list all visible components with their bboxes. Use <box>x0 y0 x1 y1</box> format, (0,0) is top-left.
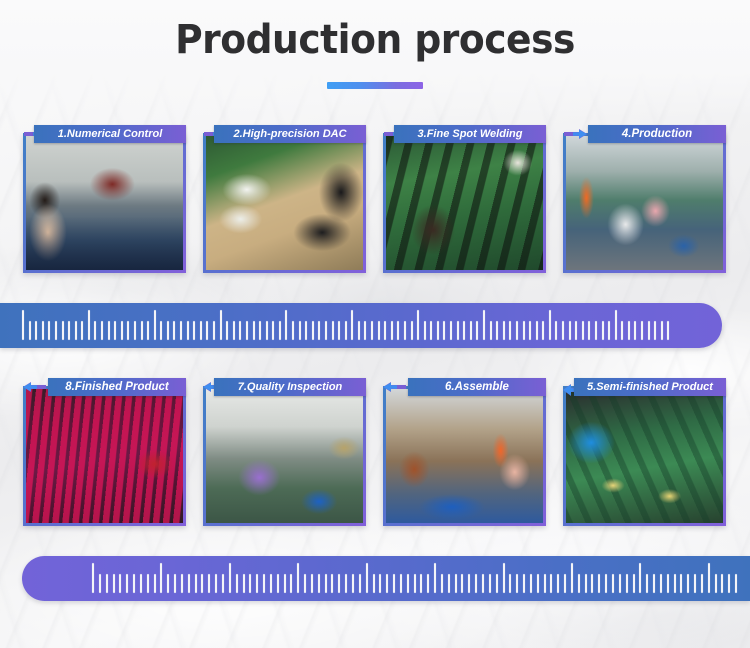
photo-frame <box>383 133 546 273</box>
ruler-divider-top <box>0 303 722 348</box>
ruler-tick <box>193 321 195 340</box>
ruler-tick <box>338 574 340 593</box>
ruler-tick <box>263 574 265 593</box>
ruler-tick <box>160 563 162 593</box>
process-step-card[interactable]: 7.Quality Inspection <box>203 378 366 526</box>
ruler-tick <box>411 321 413 340</box>
ruler-tick <box>108 321 110 340</box>
ruler-tick <box>654 321 656 340</box>
ruler-tick <box>195 574 197 593</box>
photo-frame <box>383 386 546 526</box>
ruler-tick <box>694 574 696 593</box>
ruler-tick <box>68 321 70 340</box>
ruler-tick <box>284 574 286 593</box>
ruler-tick <box>461 574 463 593</box>
ruler-tick <box>475 574 477 593</box>
ruler-tick <box>352 574 354 593</box>
photo-frame <box>563 133 726 273</box>
ruler-tick <box>470 321 472 340</box>
ruler-tick <box>400 574 402 593</box>
ruler-tick <box>299 321 301 340</box>
ruler-tick <box>443 321 445 340</box>
ruler-tick <box>661 321 663 340</box>
ruler-tick <box>266 321 268 340</box>
ruler-tick <box>351 310 353 340</box>
ruler-tick <box>180 321 182 340</box>
ruler-tick <box>279 321 281 340</box>
ruler-tick <box>550 574 552 593</box>
ruler-tick <box>213 321 215 340</box>
arrow-left-icon <box>383 381 407 393</box>
ruler-tick <box>463 321 465 340</box>
ruler-tick <box>483 310 485 340</box>
ruler-tick <box>564 574 566 593</box>
ruler-tick <box>667 321 669 340</box>
ruler-tick <box>529 321 531 340</box>
ruler-tick <box>318 574 320 593</box>
ruler-tick <box>99 574 101 593</box>
ruler-tick <box>358 321 360 340</box>
ruler-tick <box>536 321 538 340</box>
process-step-label: 6.Assemble <box>408 378 546 396</box>
ruler-tick <box>226 321 228 340</box>
ruler-tick <box>187 321 189 340</box>
ruler-tick <box>728 574 730 593</box>
stacked-magenta-finished-products-photo <box>26 389 183 523</box>
ruler-tick <box>272 321 274 340</box>
ruler-tick <box>633 574 635 593</box>
process-step-label: 2.High-precision DAC <box>214 125 366 143</box>
ruler-tick <box>608 321 610 340</box>
ruler-tick <box>626 574 628 593</box>
ruler-tick <box>721 574 723 593</box>
ruler-tick <box>325 321 327 340</box>
ruler-ticks-bottom <box>92 556 742 601</box>
ruler-tick <box>253 321 255 340</box>
ruler-tick <box>206 321 208 340</box>
ruler-tick <box>391 321 393 340</box>
ruler-tick <box>277 574 279 593</box>
photo-frame <box>23 133 186 273</box>
ruler-divider-bottom <box>22 556 750 601</box>
ruler-tick <box>588 321 590 340</box>
process-step-label: 7.Quality Inspection <box>214 378 366 396</box>
ruler-tick <box>427 574 429 593</box>
photo-frame <box>203 386 366 526</box>
ruler-tick <box>121 321 123 340</box>
ruler-tick <box>249 574 251 593</box>
ruler-tick <box>75 321 77 340</box>
ruler-tick <box>450 321 452 340</box>
ruler-tick <box>605 574 607 593</box>
ruler-tick <box>562 321 564 340</box>
process-row-top: 1.Numerical Control2.High-precision DAC3… <box>0 125 750 275</box>
ruler-tick <box>181 574 183 593</box>
quality-inspection-bench-photo <box>206 389 363 523</box>
process-step-card[interactable]: 8.Finished Product <box>23 378 186 526</box>
ruler-tick <box>94 321 96 340</box>
process-step-label: 1.Numerical Control <box>34 125 186 143</box>
page-title: Production process <box>23 14 728 66</box>
ruler-tick <box>715 574 717 593</box>
photo-frame <box>23 386 186 526</box>
ruler-tick <box>200 321 202 340</box>
ruler-tick <box>246 321 248 340</box>
ruler-tick <box>311 574 313 593</box>
ruler-tick <box>331 574 333 593</box>
ruler-tick <box>345 574 347 593</box>
ruler-tick <box>489 574 491 593</box>
ruler-tick <box>457 321 459 340</box>
ruler-tick <box>297 563 299 593</box>
ruler-tick <box>379 574 381 593</box>
ruler-tick <box>542 321 544 340</box>
ruler-tick <box>312 321 314 340</box>
ruler-tick <box>29 321 31 340</box>
ruler-tick <box>571 563 573 593</box>
ruler-tick <box>430 321 432 340</box>
ruler-tick <box>496 321 498 340</box>
ruler-tick <box>448 574 450 593</box>
ruler-tick <box>127 321 129 340</box>
process-step-card[interactable]: 5.Semi-finished Product <box>563 378 726 526</box>
ruler-tick <box>735 574 737 593</box>
factory-production-line-photo <box>566 136 723 270</box>
ruler-tick <box>147 321 149 340</box>
ruler-tick <box>81 321 83 340</box>
ruler-tick <box>612 574 614 593</box>
photo-frame <box>563 386 726 526</box>
ruler-tick <box>496 574 498 593</box>
ruler-tick <box>598 574 600 593</box>
ruler-tick <box>119 574 121 593</box>
ruler-tick <box>325 574 327 593</box>
ruler-tick <box>256 574 258 593</box>
ruler-tick <box>585 574 587 593</box>
ruler-tick <box>384 321 386 340</box>
ruler-tick <box>160 321 162 340</box>
ruler-tick <box>708 563 710 593</box>
ruler-tick <box>364 321 366 340</box>
ruler-tick <box>285 310 287 340</box>
ruler-tick <box>424 321 426 340</box>
ruler-tick <box>371 321 373 340</box>
cnc-machine-operator-photo <box>26 136 183 270</box>
ruler-tick <box>420 574 422 593</box>
ruler-tick <box>667 574 669 593</box>
ruler-tick <box>305 321 307 340</box>
ruler-tick <box>555 321 557 340</box>
ruler-tick <box>653 574 655 593</box>
ruler-tick <box>236 574 238 593</box>
ruler-tick <box>680 574 682 593</box>
ruler-tick <box>318 321 320 340</box>
ruler-tick <box>393 574 395 593</box>
ruler-tick <box>141 321 143 340</box>
ruler-tick <box>233 321 235 340</box>
ruler-tick <box>201 574 203 593</box>
ruler-tick <box>154 574 156 593</box>
ruler-tick <box>42 321 44 340</box>
ruler-tick <box>634 321 636 340</box>
ruler-tick <box>55 321 57 340</box>
ruler-tick <box>414 574 416 593</box>
ruler-tick <box>549 310 551 340</box>
ruler-tick <box>523 321 525 340</box>
process-step-card[interactable]: 2.High-precision DAC <box>203 125 366 273</box>
ruler-tick <box>106 574 108 593</box>
ruler-tick <box>114 321 116 340</box>
ruler-tick <box>229 563 231 593</box>
ruler-tick <box>113 574 115 593</box>
ruler-tick <box>154 310 156 340</box>
ruler-tick <box>259 321 261 340</box>
process-step-card[interactable]: 6.Assemble <box>383 378 546 526</box>
ruler-tick <box>621 321 623 340</box>
ruler-tick <box>243 574 245 593</box>
ruler-tick <box>476 321 478 340</box>
ruler-tick <box>304 574 306 593</box>
production-process-page: Production process 1.Numerical Control2.… <box>0 0 750 648</box>
ruler-tick <box>222 574 224 593</box>
ruler-tick <box>557 574 559 593</box>
semi-finished-pcb-boards-photo <box>566 389 723 523</box>
ruler-tick <box>646 574 648 593</box>
process-row-bottom: 8.Finished Product7.Quality Inspection6.… <box>0 378 750 528</box>
photo-frame <box>203 133 366 273</box>
ruler-tick <box>648 321 650 340</box>
process-step-card[interactable]: 4.Production <box>563 125 726 273</box>
ruler-tick <box>595 321 597 340</box>
ruler-tick <box>345 321 347 340</box>
ruler-tick <box>660 574 662 593</box>
ruler-tick <box>516 321 518 340</box>
arrow-left-icon <box>23 381 47 393</box>
ruler-tick <box>126 574 128 593</box>
ruler-tick <box>101 321 103 340</box>
ruler-tick <box>373 574 375 593</box>
process-step-label: 3.Fine Spot Welding <box>394 125 546 143</box>
process-step-label: 8.Finished Product <box>48 378 186 396</box>
ruler-tick <box>48 321 50 340</box>
ruler-tick <box>407 574 409 593</box>
ruler-tick <box>290 574 292 593</box>
ruler-tick <box>188 574 190 593</box>
ruler-tick <box>220 310 222 340</box>
ruler-tick <box>173 321 175 340</box>
ruler-tick <box>575 321 577 340</box>
gloved-hands-soldering-pcb-photo <box>206 136 363 270</box>
ruler-tick <box>544 574 546 593</box>
ruler-tick <box>503 563 505 593</box>
process-step-card[interactable]: 1.Numerical Control <box>23 125 186 273</box>
ruler-tick <box>701 574 703 593</box>
ruler-tick <box>332 321 334 340</box>
ruler-tick <box>338 321 340 340</box>
ruler-tick <box>215 574 217 593</box>
ruler-tick <box>92 563 94 593</box>
ruler-tick <box>578 574 580 593</box>
ruler-tick <box>386 574 388 593</box>
ruler-tick <box>397 321 399 340</box>
ruler-tick <box>88 310 90 340</box>
ruler-tick <box>441 574 443 593</box>
ruler-tick <box>615 310 617 340</box>
ruler-tick <box>167 321 169 340</box>
ruler-tick <box>582 321 584 340</box>
ruler-tick <box>404 321 406 340</box>
ruler-tick <box>687 574 689 593</box>
ruler-tick <box>22 310 24 340</box>
process-step-label: 5.Semi-finished Product <box>574 378 726 396</box>
ruler-tick <box>208 574 210 593</box>
ruler-tick <box>359 574 361 593</box>
process-step-label: 4.Production <box>588 125 726 143</box>
ruler-tick <box>270 574 272 593</box>
ruler-tick <box>537 574 539 593</box>
ruler-tick <box>292 321 294 340</box>
ruler-tick <box>509 574 511 593</box>
ruler-tick <box>134 321 136 340</box>
ruler-tick <box>133 574 135 593</box>
ruler-tick <box>455 574 457 593</box>
ruler-tick <box>503 321 505 340</box>
ruler-tick <box>516 574 518 593</box>
process-step-card[interactable]: 3.Fine Spot Welding <box>383 125 546 273</box>
ruler-tick <box>167 574 169 593</box>
ruler-tick <box>239 321 241 340</box>
ruler-tick <box>147 574 149 593</box>
ruler-tick <box>641 321 643 340</box>
spot-welding-pcb-boards-photo <box>386 136 543 270</box>
ruler-tick <box>530 574 532 593</box>
ruler-tick <box>468 574 470 593</box>
ruler-tick <box>619 574 621 593</box>
ruler-tick <box>434 563 436 593</box>
ruler-tick <box>174 574 176 593</box>
ruler-tick <box>569 321 571 340</box>
ruler-tick <box>417 310 419 340</box>
ruler-tick <box>639 563 641 593</box>
ruler-tick <box>674 574 676 593</box>
ruler-tick <box>378 321 380 340</box>
ruler-tick <box>591 574 593 593</box>
ruler-ticks-top <box>22 303 674 348</box>
ruler-tick <box>140 574 142 593</box>
ruler-tick <box>628 321 630 340</box>
ruler-tick <box>62 321 64 340</box>
ruler-tick <box>523 574 525 593</box>
ruler-tick <box>437 321 439 340</box>
assembly-workers-photo <box>386 389 543 523</box>
ruler-tick <box>482 574 484 593</box>
ruler-tick <box>602 321 604 340</box>
page-header: Production process <box>0 0 750 89</box>
ruler-tick <box>366 563 368 593</box>
arrow-right-icon <box>563 128 587 140</box>
ruler-tick <box>509 321 511 340</box>
ruler-tick <box>490 321 492 340</box>
title-underline-accent <box>327 82 423 89</box>
ruler-tick <box>35 321 37 340</box>
